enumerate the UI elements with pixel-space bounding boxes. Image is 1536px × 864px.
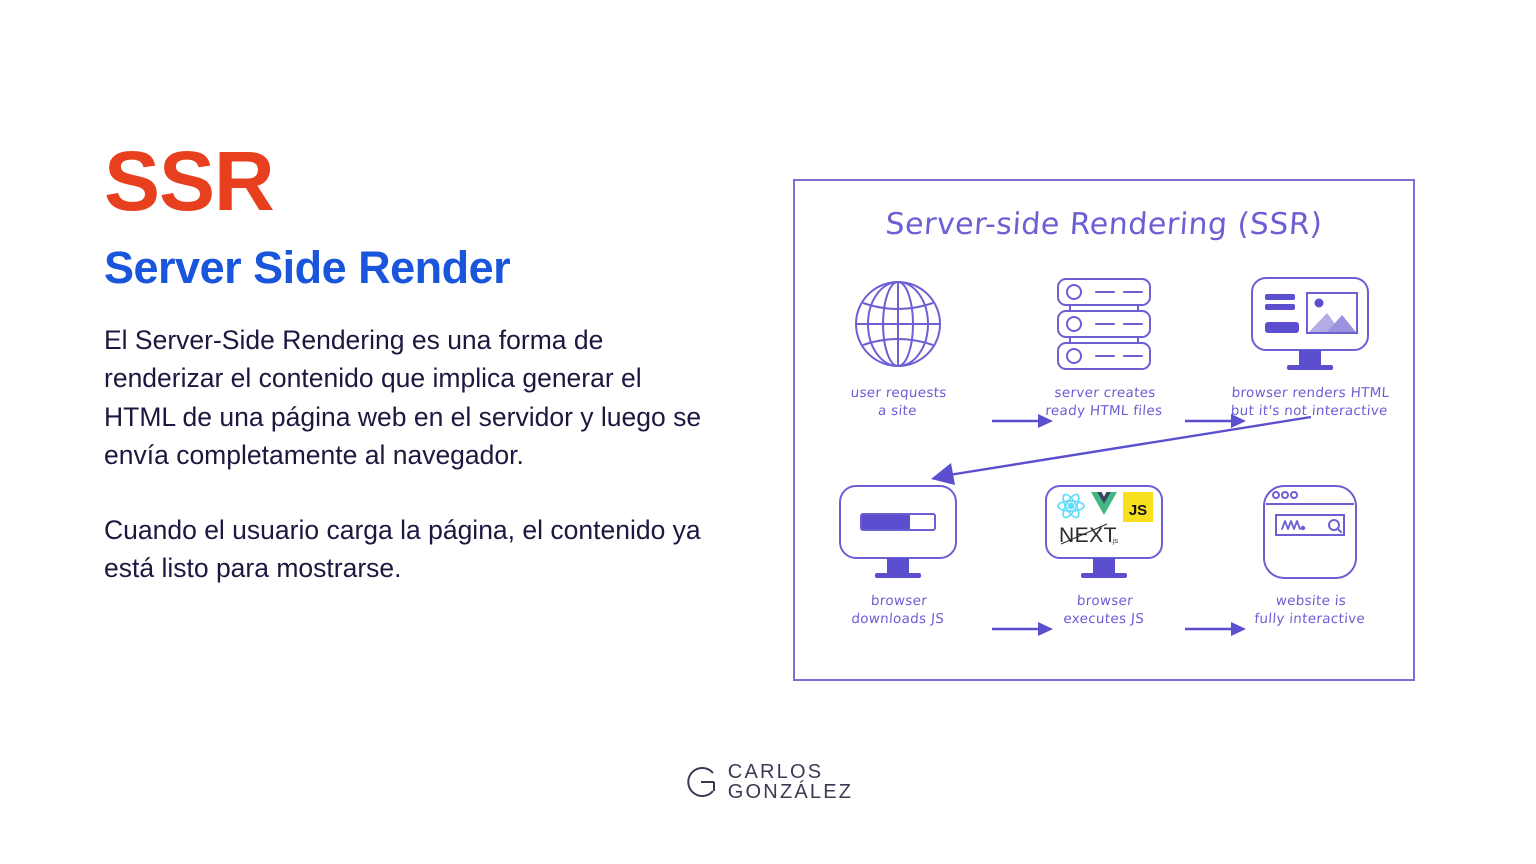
- monitor-rendered-page-icon: [1249, 273, 1371, 375]
- monitor-js-frameworks-icon: JS NEXT .js: [1043, 481, 1165, 583]
- slide-text-column: SSR Server Side Render El Server-Side Re…: [104, 142, 724, 588]
- body-paragraph-2: Cuando el usuario carga la página, el co…: [104, 511, 704, 588]
- svg-text:JS: JS: [1129, 502, 1147, 519]
- diagram-node-browser-executes: JS NEXT .js browser executes JS: [1009, 481, 1199, 628]
- diagram-label-browser-executes: browser executes JS: [1062, 592, 1145, 628]
- diagram-label-browser-downloads: browser downloads JS: [850, 592, 945, 628]
- diagram-node-server-creates: server creates ready HTML files: [1009, 273, 1199, 420]
- browser-window-icon: [1260, 481, 1360, 583]
- svg-text:NEXT: NEXT: [1059, 524, 1117, 547]
- page-subtitle: Server Side Render: [104, 244, 724, 291]
- arrow-download-to-execute: [992, 621, 1054, 637]
- diagram-node-user-requests: user requests a site: [803, 273, 993, 420]
- monitor-progress-bar-icon: [837, 481, 959, 583]
- nextjs-logo: NEXT .js: [1059, 524, 1119, 547]
- vue-logo: [1091, 492, 1117, 515]
- arrow-execute-to-website: [1185, 621, 1247, 637]
- page-title-acronym: SSR: [104, 142, 724, 222]
- body-paragraph-1: El Server-Side Rendering es una forma de…: [104, 321, 704, 475]
- cg-monogram-icon: [683, 764, 719, 800]
- diagram-row-2: browser downloads JS: [795, 481, 1413, 628]
- diagram-panel: Server-side Rendering (SSR) user req: [793, 179, 1415, 681]
- diagram-node-browser-renders: browser renders HTML but it's not intera…: [1215, 273, 1405, 420]
- globe-icon: [852, 273, 944, 375]
- footer-brand-line-1: CARLOS: [728, 762, 853, 782]
- diagram-node-browser-downloads: browser downloads JS: [803, 481, 993, 628]
- footer-brand-name: CARLOS GONZÁLEZ: [728, 762, 853, 802]
- footer-brand-logo: CARLOS GONZÁLEZ: [0, 762, 1536, 802]
- footer-brand-line-2: GONZÁLEZ: [728, 782, 853, 802]
- diagram-label-website-interactive: website is fully interactive: [1253, 592, 1366, 628]
- diagram-row-1: user requests a site: [795, 273, 1413, 420]
- diagram-node-website-interactive: website is fully interactive: [1215, 481, 1405, 628]
- js-logo: JS: [1123, 492, 1153, 522]
- diagram-title: Server-side Rendering (SSR): [794, 207, 1414, 242]
- server-stack-icon: [1052, 273, 1156, 375]
- arrow-diagonal-wrap: [925, 413, 1315, 489]
- react-logo: [1058, 492, 1084, 520]
- svg-text:.js: .js: [1111, 538, 1119, 545]
